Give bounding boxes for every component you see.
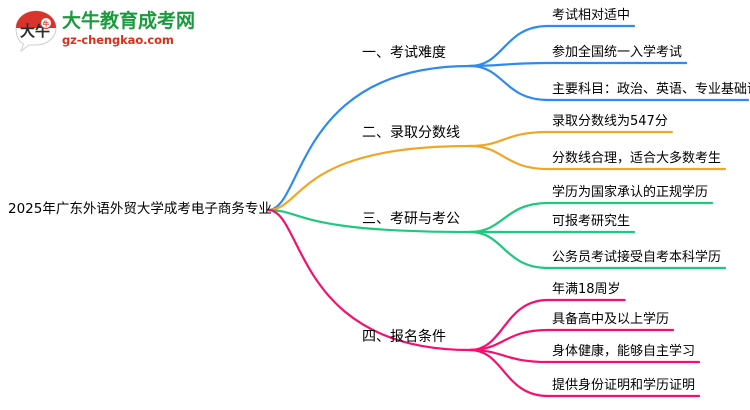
branch-3-leaf-1-label[interactable]: 学历为国家承认的正规学历 <box>552 184 708 201</box>
logo-title: 大牛教育成考网 <box>62 10 195 32</box>
branch-3-label[interactable]: 三、考研与考公 <box>362 210 460 228</box>
branch-1-leaf-1-label[interactable]: 考试相对适中 <box>552 7 630 24</box>
dniu-speech-bubble-logo-icon: 大牛 牛 <box>14 10 58 52</box>
branch-3-leaf-3-wire <box>470 232 548 268</box>
branch-2-leaf-1-wire <box>470 132 548 146</box>
branch-1-leaf-3-wire <box>470 66 548 100</box>
site-logo: 大牛 牛 大牛教育成考网 gz-chengkao.com <box>14 6 194 56</box>
branch-4-leaf-2-wire <box>470 330 548 350</box>
branch-3-leaf-1-wire <box>470 203 548 232</box>
branch-4-leaf-4-wire <box>470 350 548 396</box>
branch-2-leaf-2-wire <box>470 146 548 169</box>
mindmap-canvas: 大牛 牛 大牛教育成考网 gz-chengkao.com 2025年广东外语外贸… <box>0 0 750 410</box>
branch-4-leaf-4-label[interactable]: 提供身份证明和学历证明 <box>552 377 695 394</box>
branch-3-leaf-3-label[interactable]: 公务员考试接受自考本科学历 <box>552 249 721 266</box>
branch-2-trunk-wire <box>268 146 470 210</box>
branch-4-leaf-1-label[interactable]: 年满18周岁 <box>552 281 621 298</box>
branch-1-leaf-3-label[interactable]: 主要科目：政治、英语、专业基础课 <box>552 81 750 98</box>
branch-3-leaf-2-label[interactable]: 可报考研究生 <box>552 213 630 230</box>
branch-2-label[interactable]: 二、录取分数线 <box>362 124 460 142</box>
branch-2-leaf-1-label[interactable]: 录取分数线为547分 <box>552 113 668 130</box>
svg-text:牛: 牛 <box>43 19 50 28</box>
branch-4-leaf-2-label[interactable]: 具备高中及以上学历 <box>552 311 669 328</box>
branch-1-leaf-2-wire <box>470 63 548 66</box>
branch-4-leaf-3-label[interactable]: 身体健康，能够自主学习 <box>552 343 695 360</box>
branch-2-leaf-2-label[interactable]: 分数线合理，适合大多数考生 <box>552 150 721 167</box>
branch-4-leaf-3-wire <box>470 350 548 362</box>
logo-domain: gz-chengkao.com <box>62 33 195 48</box>
branch-4-label[interactable]: 四、报名条件 <box>362 328 446 346</box>
root-node-label: 2025年广东外语外贸大学成考电子商务专业 <box>8 200 272 218</box>
branch-1-label[interactable]: 一、考试难度 <box>362 44 446 62</box>
branch-1-leaf-2-label[interactable]: 参加全国统一入学考试 <box>552 44 682 61</box>
branch-1-leaf-1-wire <box>470 26 548 66</box>
branch-4-leaf-1-wire <box>470 300 548 350</box>
